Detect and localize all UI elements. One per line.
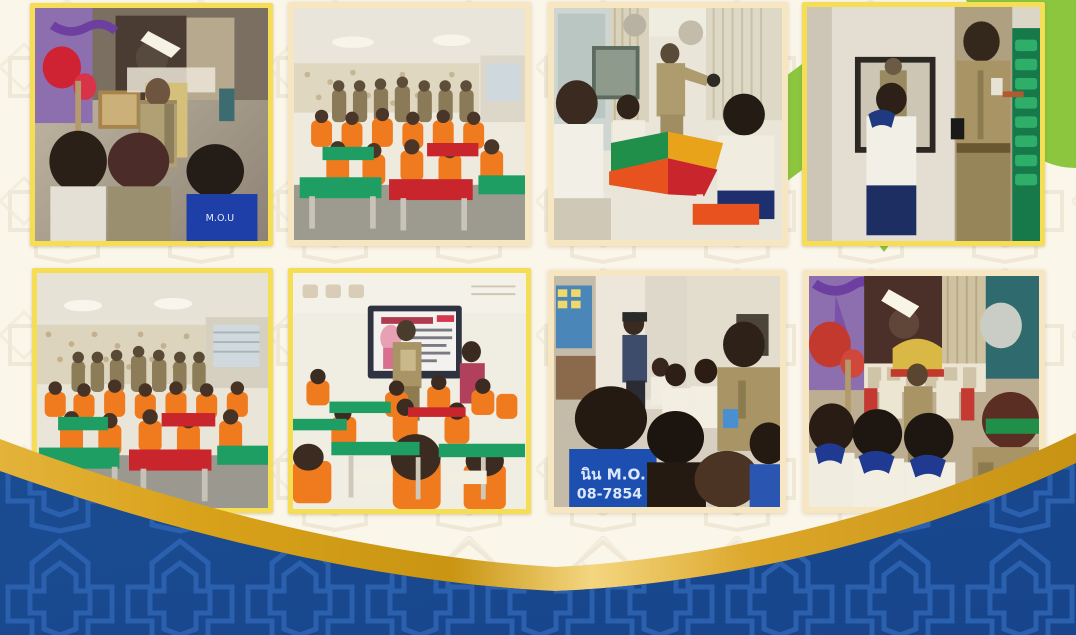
photo-frame-7[interactable]: นิน M.O.U. 08-7854 — [548, 270, 786, 513]
photo-frame-3[interactable] — [548, 2, 788, 246]
photo-4 — [807, 7, 1040, 241]
photo-3 — [554, 8, 782, 240]
photo-2 — [294, 8, 525, 240]
photo-grid: M.O.U — [0, 0, 1076, 525]
photo-6 — [293, 273, 526, 509]
photo-1: M.O.U — [35, 8, 268, 241]
photo-frame-2[interactable] — [288, 2, 531, 246]
photo-frame-5[interactable] — [32, 268, 273, 513]
slide-canvas: M.O.U — [0, 0, 1076, 635]
svg-text:M.O.U: M.O.U — [206, 213, 235, 224]
photo-frame-1[interactable]: M.O.U — [30, 3, 273, 246]
photo-5 — [37, 273, 268, 508]
photo-frame-6[interactable] — [288, 268, 531, 514]
photo-frame-8[interactable] — [803, 270, 1045, 513]
photo-frame-4[interactable] — [802, 2, 1045, 246]
svg-text:08-7854: 08-7854 — [577, 486, 642, 502]
photo-8 — [809, 276, 1039, 507]
photo-7: นิน M.O.U. 08-7854 — [554, 276, 780, 507]
